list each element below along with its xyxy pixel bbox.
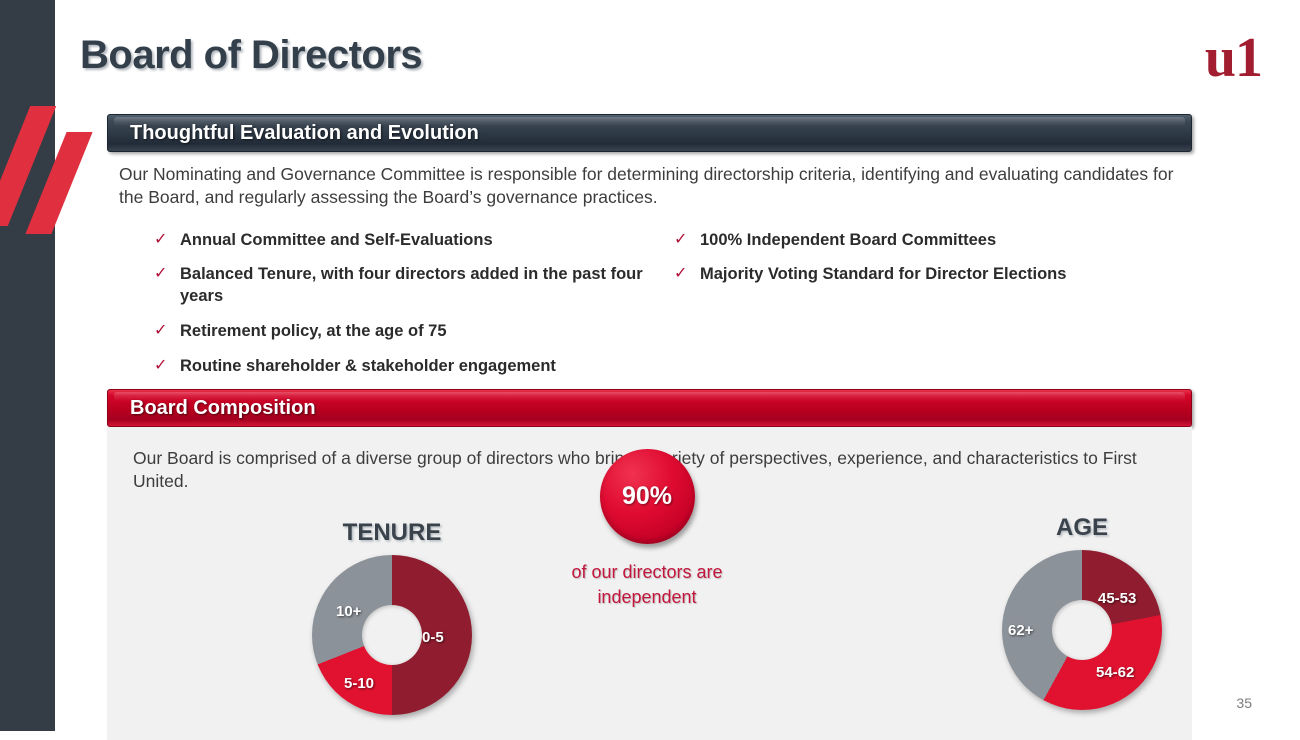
evaluation-bullet-lists: ✓ Annual Committee and Self-Evaluations … xyxy=(107,230,1192,391)
tenure-donut-hole xyxy=(362,605,422,665)
list-item-label: Balanced Tenure, with four directors add… xyxy=(180,264,674,308)
age-donut-hole xyxy=(1052,600,1112,660)
list-item-label: Majority Voting Standard for Director El… xyxy=(700,264,1066,286)
age-donut-chart: AGE 45-53 54-62 62+ xyxy=(922,514,1242,710)
chart-title-age: AGE xyxy=(922,514,1242,542)
bullet-column-right: ✓ 100% Independent Board Committees ✓ Ma… xyxy=(674,230,1174,391)
page-title: Board of Directors xyxy=(80,33,422,78)
chart-title-tenure: TENURE xyxy=(232,519,552,547)
check-icon: ✓ xyxy=(154,264,180,284)
tenure-donut-chart: TENURE 0-5 5-10 10+ xyxy=(232,519,552,715)
list-item: ✓ 100% Independent Board Committees xyxy=(674,230,1174,252)
left-sidebar-rail xyxy=(0,0,55,731)
composition-panel: Our Board is comprised of a diverse grou… xyxy=(107,427,1192,740)
bullet-column-left: ✓ Annual Committee and Self-Evaluations … xyxy=(154,230,674,391)
section-header-bar-composition: Board Composition xyxy=(107,389,1192,427)
independent-caption: of our directors are independent xyxy=(537,560,757,610)
list-item: ✓ Balanced Tenure, with four directors a… xyxy=(154,264,674,308)
age-segment-label-45-53: 45-53 xyxy=(1098,590,1136,607)
section-header-label-evaluation: Thoughtful Evaluation and Evolution xyxy=(108,122,479,145)
page-number: 35 xyxy=(1236,695,1252,711)
charts-row: TENURE 0-5 5-10 10+ 90% of our directors… xyxy=(107,519,1192,734)
list-item-label: Routine shareholder & stakeholder engage… xyxy=(180,356,556,378)
check-icon: ✓ xyxy=(674,230,700,250)
section-board-composition: Board Composition Our Board is comprised… xyxy=(107,389,1192,740)
age-donut-wrap: 45-53 54-62 62+ xyxy=(1002,550,1162,710)
list-item-label: Retirement policy, at the age of 75 xyxy=(180,321,447,343)
tenure-segment-label-5-10: 5-10 xyxy=(344,675,374,692)
list-item: ✓ Majority Voting Standard for Director … xyxy=(674,264,1174,286)
independent-percent-block: 90% of our directors are independent xyxy=(537,449,757,610)
list-item-label: Annual Committee and Self-Evaluations xyxy=(180,230,493,252)
independent-percent-circle: 90% xyxy=(600,449,695,544)
independent-percent-value: 90% xyxy=(622,482,672,511)
list-item: ✓ Annual Committee and Self-Evaluations xyxy=(154,230,674,252)
section-header-bar-evaluation: Thoughtful Evaluation and Evolution xyxy=(107,114,1192,152)
section-thoughtful-evaluation: Thoughtful Evaluation and Evolution Our … xyxy=(107,114,1192,390)
tenure-donut-wrap: 0-5 5-10 10+ xyxy=(312,555,472,715)
section-header-label-composition: Board Composition xyxy=(108,397,316,420)
check-icon: ✓ xyxy=(154,230,180,250)
independent-caption-line2: independent xyxy=(537,585,757,610)
tenure-segment-label-10plus: 10+ xyxy=(336,603,361,620)
check-icon: ✓ xyxy=(154,356,180,376)
age-segment-label-54-62: 54-62 xyxy=(1096,664,1134,681)
check-icon: ✓ xyxy=(154,321,180,341)
list-item: ✓ Routine shareholder & stakeholder enga… xyxy=(154,356,674,378)
list-item: ✓ Retirement policy, at the age of 75 xyxy=(154,321,674,343)
list-item-label: 100% Independent Board Committees xyxy=(700,230,996,252)
evaluation-paragraph: Our Nominating and Governance Committee … xyxy=(107,163,1184,210)
age-segment-label-62plus: 62+ xyxy=(1008,622,1033,639)
independent-caption-line1: of our directors are xyxy=(537,560,757,585)
brand-logo: u1 xyxy=(1205,30,1262,86)
tenure-segment-label-0-5: 0-5 xyxy=(422,629,444,646)
check-icon: ✓ xyxy=(674,264,700,284)
